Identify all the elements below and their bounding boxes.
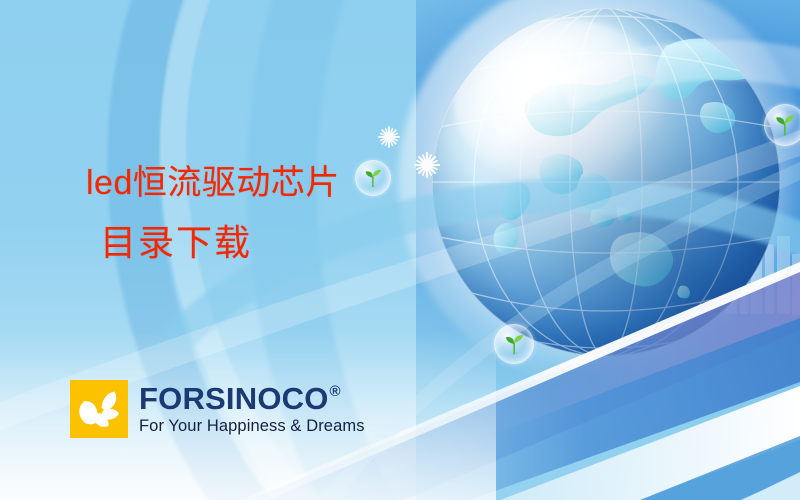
- bubble-with-leaf-3: [764, 104, 800, 146]
- globe-shadow: [432, 8, 780, 356]
- brand-logo: FORSINOCO ® For Your Happiness & Dreams: [70, 380, 365, 438]
- green-leaf-icon: [772, 112, 798, 138]
- brand-logo-text: FORSINOCO ® For Your Happiness & Dreams: [139, 380, 365, 438]
- green-leaf-icon: [502, 332, 526, 356]
- world-globe: [432, 8, 780, 356]
- brand-wordmark-text: FORSINOCO: [139, 383, 329, 414]
- registered-mark: ®: [330, 384, 341, 399]
- globe-sphere: [432, 8, 780, 356]
- brand-tagline: For Your Happiness & Dreams: [139, 418, 365, 435]
- four-petal-pinwheel-icon: [70, 380, 128, 438]
- banner-headline: led恒流驱动芯片 目录下载: [86, 163, 416, 265]
- bubble-with-leaf-2: [494, 324, 534, 364]
- headline-line-1: led恒流驱动芯片: [86, 163, 416, 204]
- headline-line-2: 目录下载: [100, 222, 416, 265]
- promo-banner: led恒流驱动芯片 目录下载 FORSINOCO ®: [0, 0, 800, 500]
- brand-wordmark: FORSINOCO ®: [139, 383, 365, 414]
